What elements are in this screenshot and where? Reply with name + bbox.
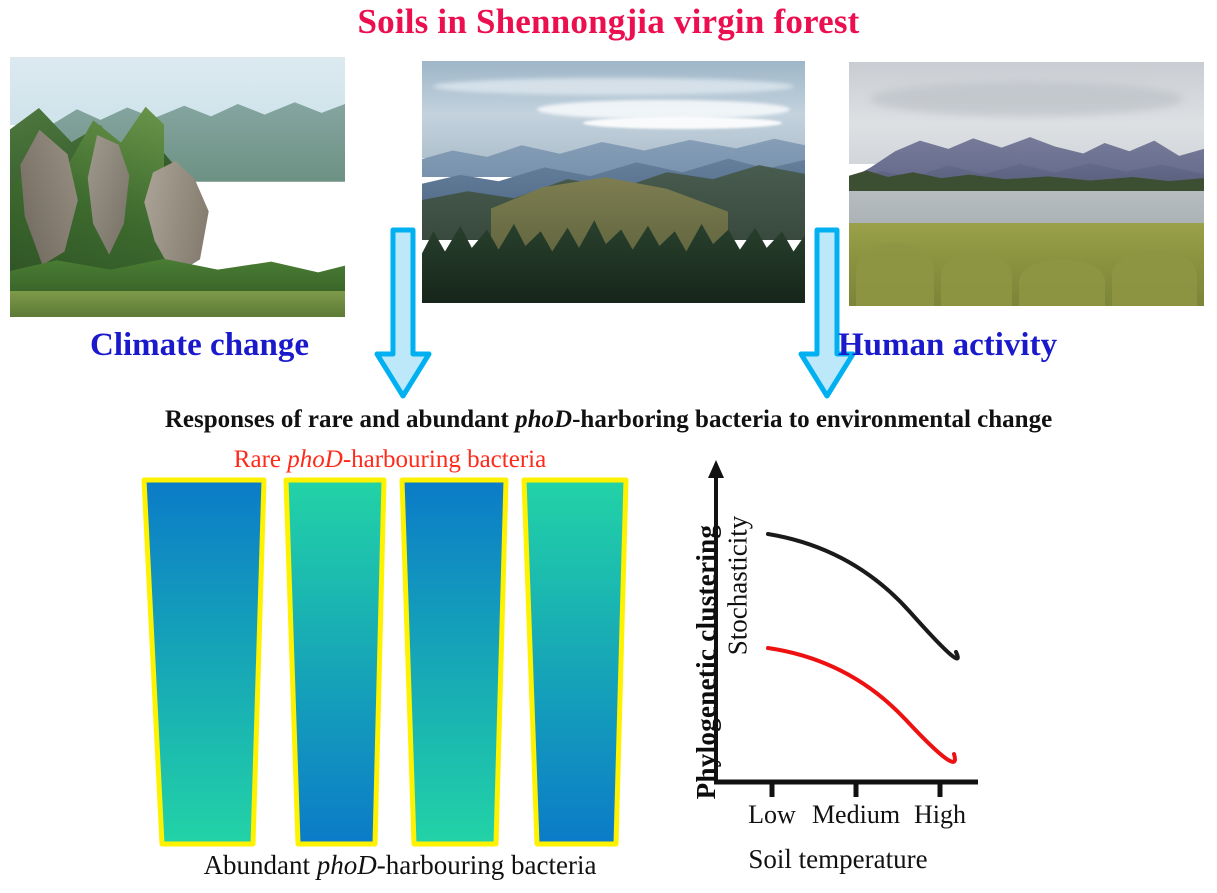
photo3-grass-tuft: [1019, 260, 1104, 306]
label-rare-bacteria: Rare phoD-harbouring bacteria: [160, 446, 620, 474]
photo2-cloud-band-a: [433, 78, 793, 95]
stochasticity-line-chart: Stochasticity Low Medium High Soil tempe…: [678, 452, 1078, 852]
trapezoid-environmental-breadth[interactable]: Environmental breadth: [398, 476, 516, 848]
trait-trapezoid-group: Community diversity Phylogenetic signal …: [140, 476, 650, 848]
statement-line: Responses of rare and abundant phoD-harb…: [0, 406, 1217, 434]
x-tick-label-medium: Medium: [796, 800, 916, 830]
photo1-foreground-grass: [10, 291, 345, 317]
photo3-overcast-cloud: [870, 82, 1182, 116]
photo2-cloud-band-c: [583, 117, 782, 129]
photo-lake-grassland: [849, 62, 1204, 306]
statement-before: Responses of rare and abundant: [165, 406, 515, 433]
rare-before: Rare: [234, 446, 287, 473]
photo3-grass-tuft: [1112, 250, 1197, 306]
photo3-grass-tuft: [941, 252, 1012, 306]
photo3-grass-tuft: [856, 243, 934, 306]
statement-after: -harboring bacteria to environmental cha…: [572, 406, 1052, 433]
label-abundant-bacteria: Abundant phoD-harbouring bacteria: [140, 850, 660, 881]
abundant-before: Abundant: [204, 850, 317, 880]
rare-gene-name: phoD: [287, 446, 343, 473]
climate-change-arrow-icon: [366, 226, 440, 402]
graphical-abstract: Soils in Shennongjia virgin forest: [0, 0, 1217, 893]
photo-ridges-conifers: [422, 61, 805, 303]
human-activity-arrow-icon: [790, 226, 864, 402]
statement-gene-name: phoD: [515, 406, 572, 433]
chart-x-axis-label: Soil temperature: [678, 844, 998, 875]
trapezoid-phylogenetic-signal[interactable]: Phylogenetic signal: [282, 476, 394, 848]
x-tick-label-high: High: [900, 800, 980, 830]
series-rare-curve: [768, 648, 955, 762]
chart-y-axis-label: Stochasticity: [723, 466, 754, 706]
photo-mountain-canyon: [10, 57, 345, 317]
page-title: Soils in Shennongjia virgin forest: [0, 2, 1217, 42]
abundant-gene-name: phoD: [317, 850, 377, 880]
series-abundant-curve: [768, 534, 958, 659]
trapezoid-phylogenetic-clustering[interactable]: Phylogenetic clustering: [520, 476, 636, 848]
label-climate-change: Climate change: [90, 327, 309, 364]
rare-after: -harbouring bacteria: [343, 446, 546, 473]
label-human-activity: Human activity: [838, 327, 1057, 364]
abundant-after: -harbouring bacteria: [377, 850, 597, 880]
trapezoid-community-diversity[interactable]: Community diversity: [140, 476, 280, 848]
